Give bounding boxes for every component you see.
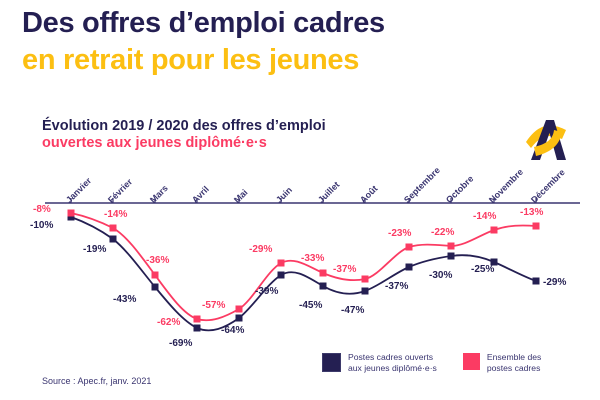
x-label-septembre: Septembre [402,165,442,205]
x-label-juillet: Juillet [316,180,341,205]
chart-panel: Évolution 2019 / 2020 des offres d’emplo… [0,106,600,400]
chart-legend: Postes cadres ouverts aux jeunes diplômé… [322,352,541,373]
value-label-pink-juin: -29% [249,244,272,255]
value-label-pink-octobre: -22% [431,227,454,238]
value-label-navy-janvier: -10% [30,220,53,231]
legend-swatch-navy [322,353,341,372]
value-label-pink-fevrier: -14% [104,209,127,220]
x-label-decembre: Décembre [529,167,567,205]
value-label-pink-novembre: -14% [473,211,496,222]
x-label-mai: Mai [232,187,250,205]
value-label-navy-avril: -69% [169,338,192,349]
headline-line-2: en retrait pour les jeunes [22,43,582,77]
legend-item-pink: Ensemble des postes cadres [463,352,541,373]
x-label-novembre: Novembre [487,167,525,205]
headline-line-1: Des offres d’emploi cadres [22,6,582,40]
x-label-juin: Juin [274,185,294,205]
headline: Des offres d’emploi cadres en retrait po… [22,6,582,77]
x-label-janvier: Janvier [64,176,93,205]
value-label-pink-mai: -57% [202,300,225,311]
x-label-avril: Avril [190,184,211,205]
value-label-navy-fevrier: -19% [83,244,106,255]
value-label-navy-mai: -64% [221,325,244,336]
x-label-aout: Août [358,183,380,205]
value-label-pink-janvier: -8% [33,204,51,215]
value-label-navy-juin: -39% [255,286,278,297]
value-label-navy-aout: -47% [341,305,364,316]
value-label-navy-mars: -43% [113,294,136,305]
legend-label-pink: Ensemble des postes cadres [487,352,541,373]
value-label-pink-mars: -36% [146,255,169,266]
x-label-fevrier: Février [106,177,134,205]
x-label-octobre: Octobre [444,174,475,205]
x-label-mars: Mars [148,183,170,205]
value-label-navy-septembre: -37% [385,281,408,292]
value-label-pink-juillet: -33% [301,253,324,264]
value-label-pink-decembre: -13% [520,207,543,218]
infographic-root: Des offres d’emploi cadres en retrait po… [0,0,600,400]
source-note: Source : Apec.fr, janv. 2021 [42,376,151,386]
value-label-pink-septembre: -23% [388,228,411,239]
legend-swatch-pink [463,353,480,370]
legend-label-navy: Postes cadres ouverts aux jeunes diplômé… [348,352,437,373]
value-label-pink-aout: -37% [333,264,356,275]
value-label-navy-decembre: -29% [543,277,566,288]
value-label-pink-avril: -62% [157,317,180,328]
value-label-navy-novembre: -25% [471,264,494,275]
value-label-navy-octobre: -30% [429,270,452,281]
value-label-navy-juillet: -45% [299,300,322,311]
legend-item-navy: Postes cadres ouverts aux jeunes diplômé… [322,352,437,373]
